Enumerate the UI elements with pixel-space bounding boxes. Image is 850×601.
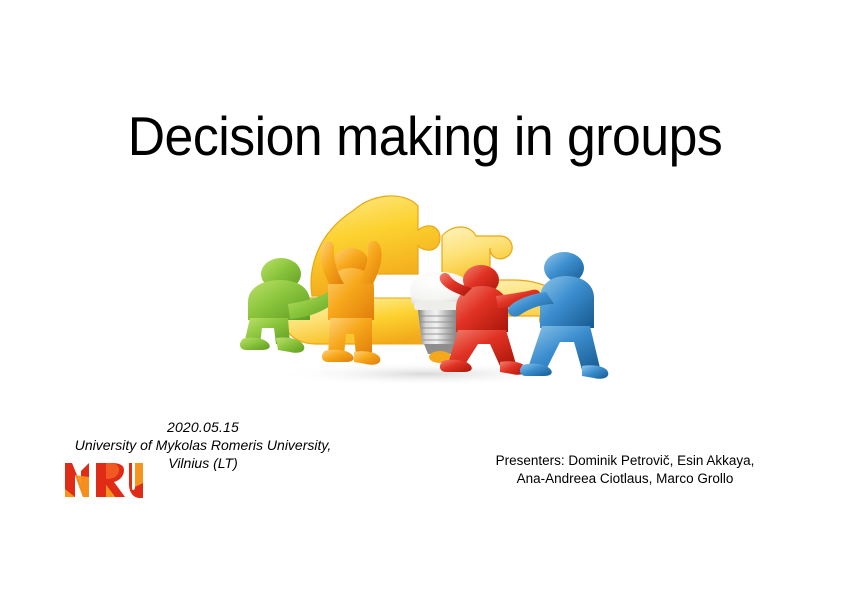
presenters-line-1: Presenters: Dominik Petrovič, Esin Akkay… (450, 452, 800, 470)
venue-institution: University of Mykolas Romeris University… (62, 436, 344, 454)
venue-date: 2020.05.15 (62, 418, 344, 436)
page-title: Decision making in groups (26, 104, 825, 168)
presenters-info: Presenters: Dominik Petrovič, Esin Akkay… (450, 452, 800, 488)
teamwork-puzzle-lightbulb-illustration (228, 192, 622, 388)
mru-logo (63, 457, 145, 503)
presenters-line-2: Ana-Andreea Ciotlaus, Marco Grollo (450, 470, 800, 488)
presentation-slide: Decision making in groups (0, 0, 850, 601)
orange-figure (320, 241, 381, 365)
